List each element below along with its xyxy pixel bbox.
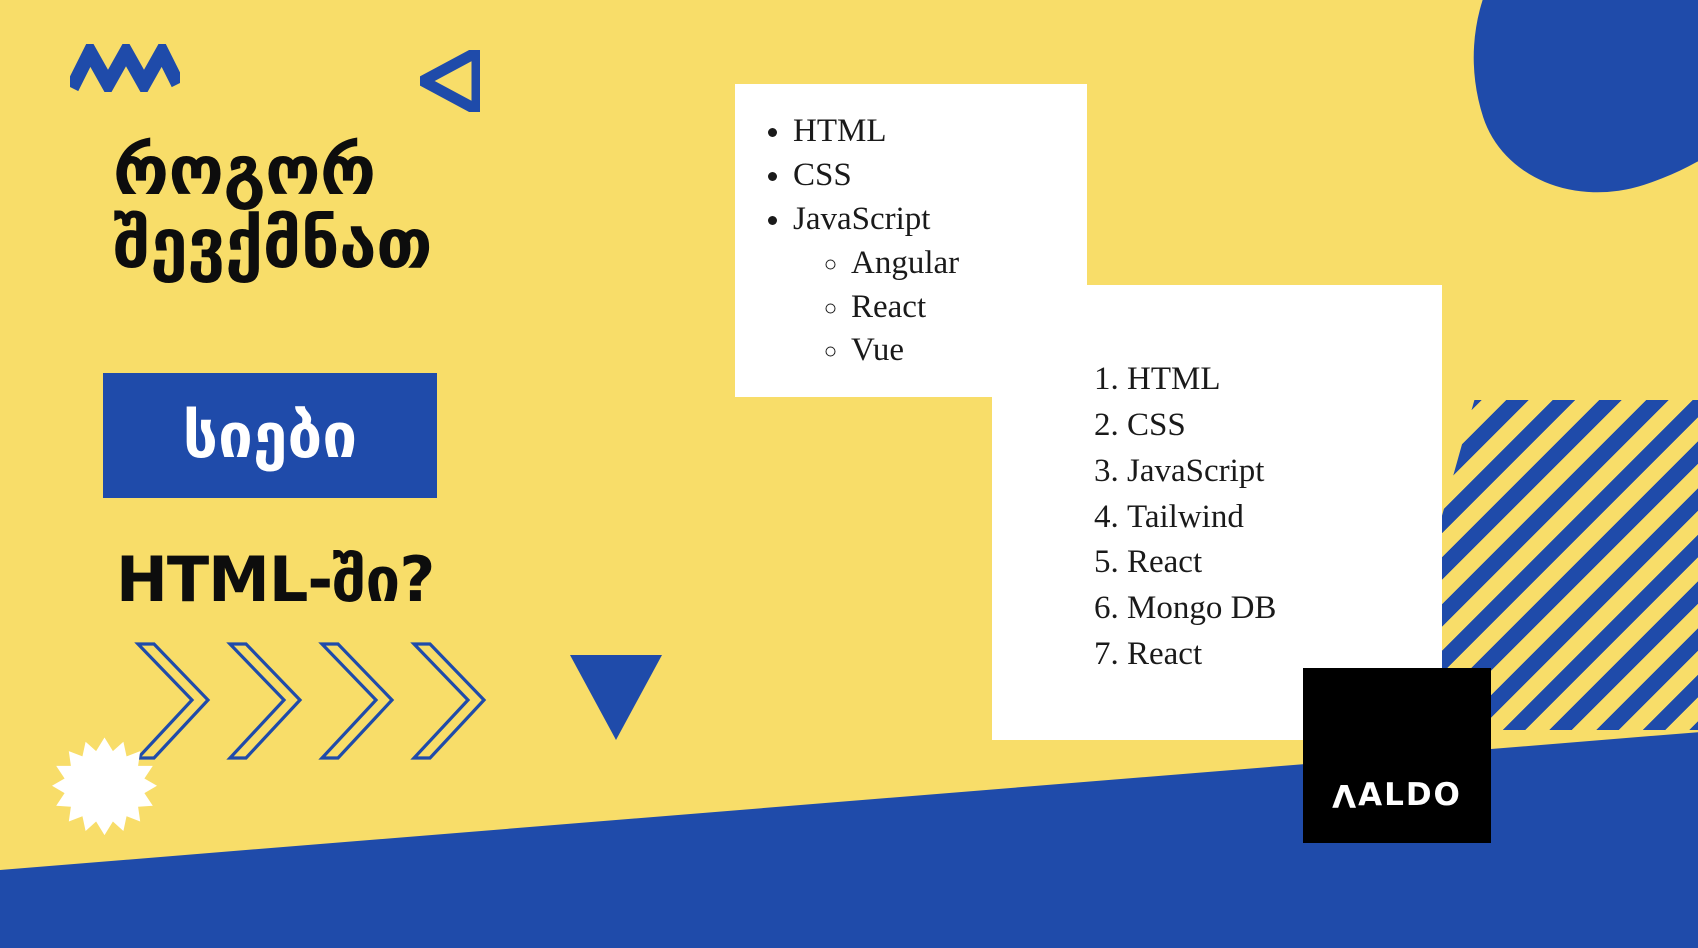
list-item: CSS bbox=[793, 154, 1087, 198]
list-item-label: HTML bbox=[1127, 361, 1221, 397]
list-item-label: Mongo DB bbox=[1127, 590, 1276, 626]
list-item: HTML bbox=[1127, 357, 1442, 403]
list-item-label: React bbox=[851, 289, 926, 325]
list-item-label: React bbox=[1127, 636, 1202, 672]
blob-shape bbox=[1426, 0, 1698, 226]
list-item-label: JavaScript bbox=[793, 201, 930, 237]
list-item: JavaScript bbox=[1127, 449, 1442, 495]
list-item: Tailwind bbox=[1127, 495, 1442, 541]
brand-logo-name: ALDO bbox=[1358, 777, 1462, 813]
starburst-icon bbox=[52, 735, 157, 845]
list-item-label: React bbox=[1127, 544, 1202, 580]
brand-logo-text: VALDO bbox=[1303, 777, 1491, 813]
triangle-left-icon bbox=[420, 50, 480, 112]
list-item-label: CSS bbox=[1127, 407, 1186, 443]
highlight-tag-label: სიები bbox=[183, 405, 357, 467]
subtitle: HTML-ში? bbox=[116, 543, 434, 616]
list-item: Mongo DB bbox=[1127, 586, 1442, 632]
list-item-label: Angular bbox=[851, 245, 959, 281]
headline-line-2: შევქმნათ bbox=[113, 208, 673, 281]
list-item-label: Tailwind bbox=[1127, 499, 1244, 535]
ordered-list: HTML CSS JavaScript Tailwind React Mongo… bbox=[992, 357, 1442, 678]
list-item-label: CSS bbox=[793, 157, 852, 193]
list-item: React bbox=[1127, 540, 1442, 586]
list-item: CSS bbox=[1127, 403, 1442, 449]
triangle-down-icon bbox=[570, 655, 662, 740]
list-item-label: Vue bbox=[851, 332, 904, 368]
poster-canvas: როგორ შევქმნათ სიები HTML-ში? HTML CSS J… bbox=[0, 0, 1698, 948]
highlight-tag: სიები bbox=[103, 373, 437, 498]
zigzag-icon bbox=[70, 44, 180, 92]
list-item: HTML bbox=[793, 110, 1087, 154]
list-item: Angular bbox=[851, 242, 1087, 286]
headline-line-1: როგორ bbox=[113, 132, 376, 211]
brand-logo: VALDO bbox=[1303, 668, 1491, 843]
page-title: როგორ შევქმნათ bbox=[113, 135, 673, 282]
chevron-row-icon bbox=[130, 640, 510, 765]
list-item-label: HTML bbox=[793, 113, 887, 149]
list-item-label: JavaScript bbox=[1127, 453, 1264, 489]
brand-logo-mark: V bbox=[1332, 777, 1358, 813]
